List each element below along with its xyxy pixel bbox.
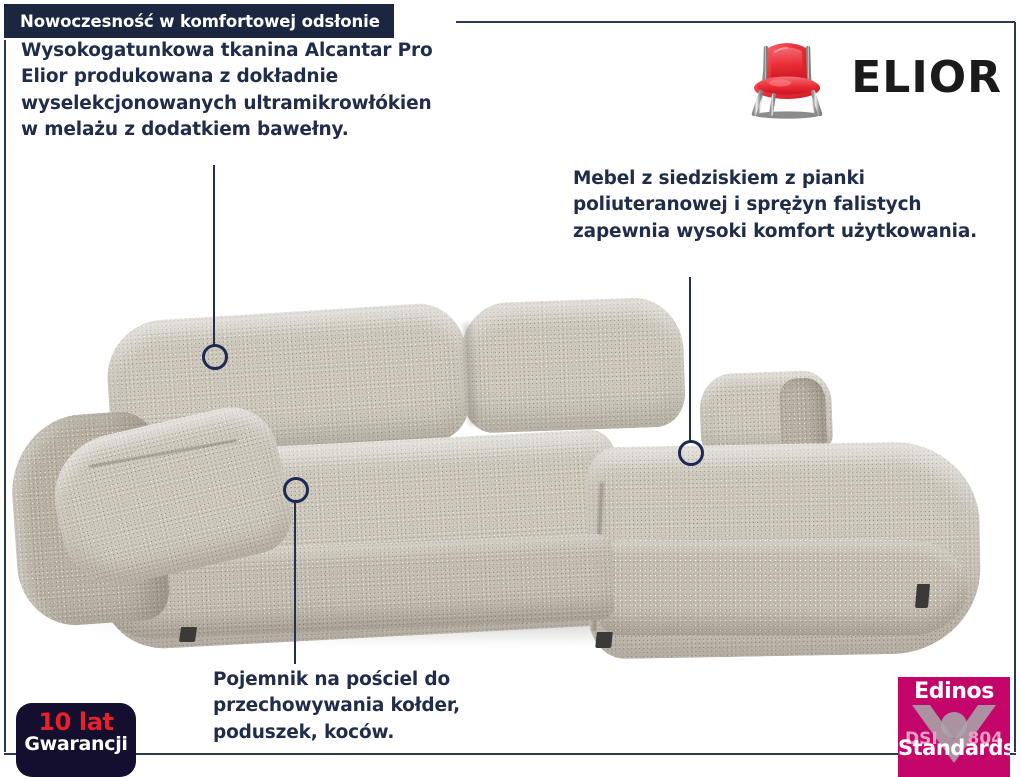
sofa-backrest-right — [460, 296, 686, 434]
callout-marker-fabric[interactable] — [202, 344, 228, 370]
callout-leader-fabric — [213, 165, 215, 345]
brand-logo: ELIOR — [741, 32, 1002, 124]
header-rule — [456, 21, 1015, 23]
callout-label-fabric: Wysokogatunkowa tkanina Alcantar Pro Eli… — [21, 38, 451, 143]
callout-label-storage: Pojemnik na pościel do przechowywania ko… — [213, 667, 553, 746]
sofa-leg — [595, 632, 613, 648]
frame-border-bottom — [4, 753, 1016, 755]
sofa-leg — [915, 584, 930, 608]
edinos-standards-badge: Edinos DSI 804 Standards — [898, 677, 1010, 777]
edinos-standards-label: Standards — [898, 736, 1010, 760]
callout-marker-foam[interactable] — [678, 440, 704, 466]
red-chair-icon — [741, 32, 833, 124]
infographic-page: Nowoczesność w komfortowej odsłonie — [0, 0, 1020, 777]
warranty-badge: 10 lat Gwarancji — [16, 703, 136, 777]
edinos-title: Edinos — [898, 679, 1010, 704]
callout-leader-foam — [689, 277, 691, 443]
callout-label-foam: Mebel z siedziskiem z pianki poliuterano… — [573, 166, 983, 245]
page-title-bar: Nowoczesność w komfortowej odsłonie — [4, 4, 394, 38]
warranty-years: 10 lat — [38, 710, 113, 734]
callout-marker-storage[interactable] — [283, 477, 309, 503]
sofa-chaise-front — [596, 540, 968, 636]
sofa-leg — [179, 627, 197, 642]
page-title: Nowoczesność w komfortowej odsłonie — [20, 12, 380, 31]
product-image-corner-sofa — [0, 292, 1020, 662]
warranty-label: Gwarancji — [24, 734, 127, 755]
brand-name: ELIOR — [851, 56, 1002, 100]
callout-leader-storage — [294, 502, 296, 664]
